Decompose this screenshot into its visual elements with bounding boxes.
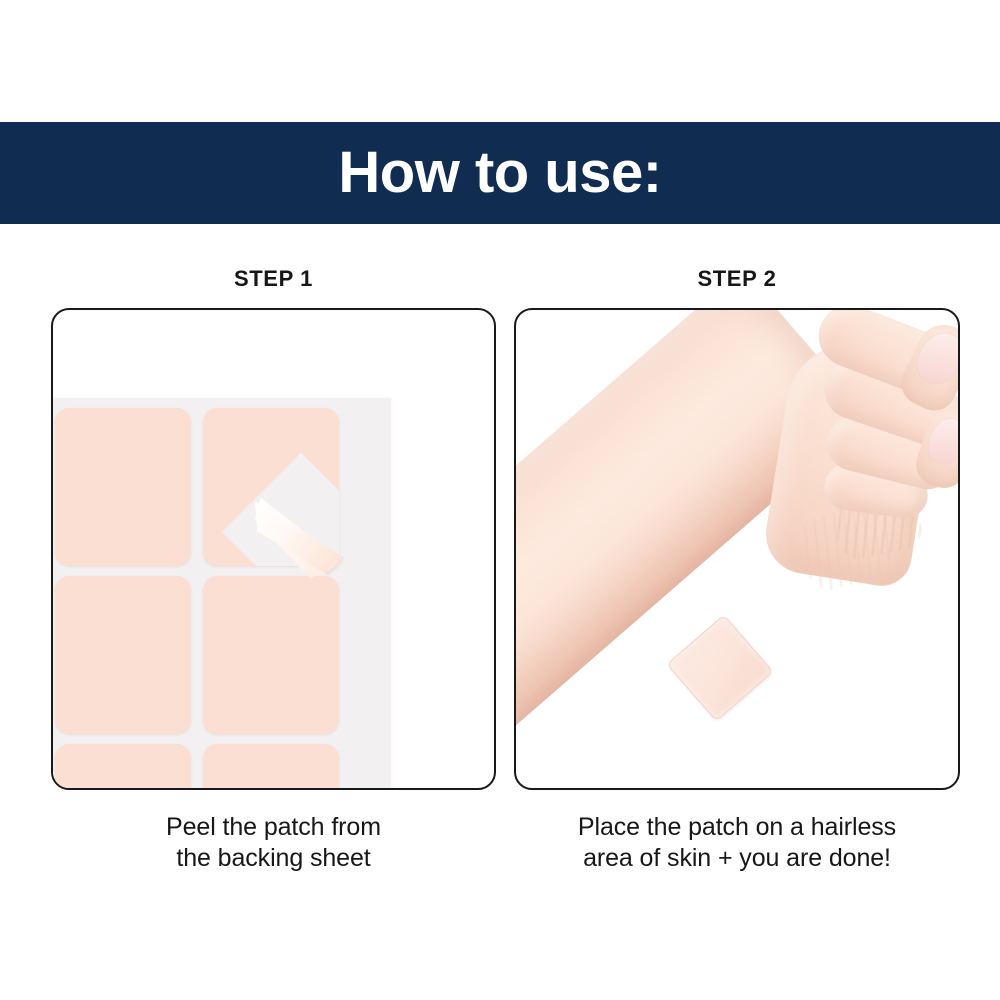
patch-tile (55, 744, 191, 790)
step-1-caption: Peel the patch from the backing sheet (41, 812, 506, 873)
arm-illustration (516, 310, 958, 788)
step-2-label: STEP 2 (514, 266, 960, 292)
patch-grid (51, 398, 391, 790)
step-1-card (51, 308, 496, 790)
patch-tile (203, 576, 339, 734)
patch-tile (55, 576, 191, 734)
step-1-label: STEP 1 (51, 266, 496, 292)
header-banner: How to use: (0, 122, 1000, 224)
step-1-caption-line-2: the backing sheet (41, 843, 506, 874)
how-to-use-infographic: How to use: STEP 1 Peel the patch from t… (0, 0, 1000, 1000)
patch-tile (203, 744, 339, 790)
step-1-caption-line-1: Peel the patch from (166, 813, 381, 841)
page-title: How to use: (338, 144, 661, 202)
patch-tile (55, 408, 191, 566)
step-2-card (514, 308, 960, 790)
step-2-caption: Place the patch on a hairless area of sk… (504, 812, 970, 873)
step-2-caption-line-2: area of skin + you are done! (504, 843, 970, 874)
applied-patch (666, 614, 773, 721)
step-2-caption-line-1: Place the patch on a hairless (578, 813, 896, 841)
